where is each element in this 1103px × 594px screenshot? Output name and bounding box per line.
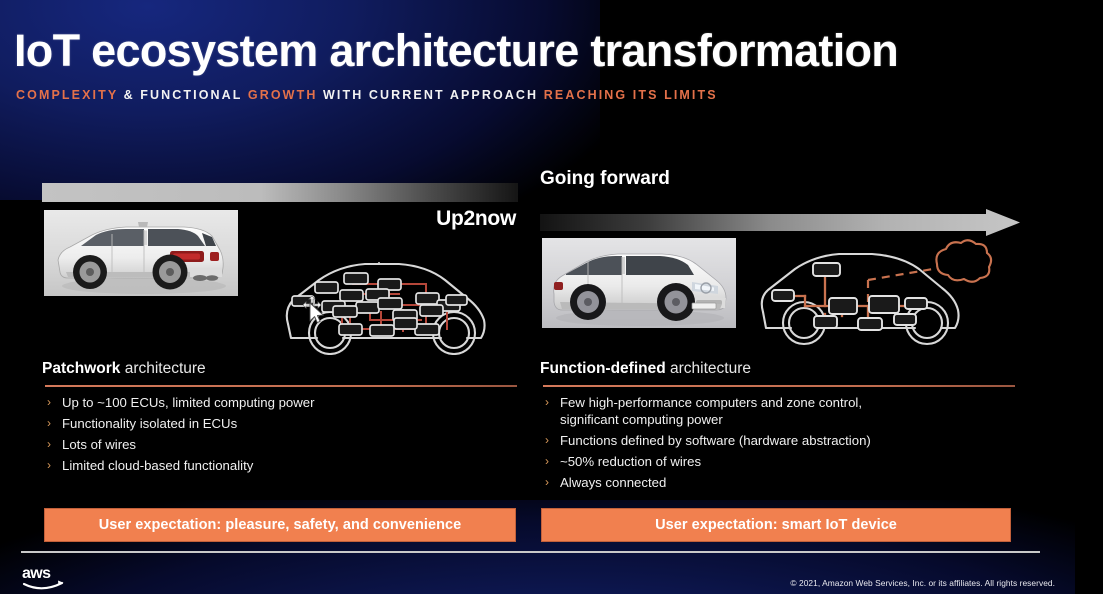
diagram-patchwork-architecture [281, 250, 496, 360]
list-item-label: ~50% reduction of wires [560, 453, 701, 470]
list-item: › ~50% reduction of wires [544, 453, 1018, 470]
subtitle-part-5: REACHING ITS LIMITS [544, 88, 718, 102]
list-item-label: Few high-performance computers and zone … [560, 394, 862, 428]
list-item: › Few high-performance computers and zon… [544, 394, 1018, 428]
car-photo-ev-front [542, 238, 736, 328]
subtitle-part-1: COMPLEXITY [16, 88, 124, 102]
chevron-right-icon: › [544, 474, 560, 491]
left-architecture-title: Patchwork architecture [42, 360, 206, 378]
left-expectation-banner-label: User expectation: pleasure, safety, and … [99, 517, 462, 533]
copyright-notice: © 2021, Amazon Web Services, Inc. or its… [790, 578, 1055, 588]
right-architecture-title-rest: architecture [666, 360, 751, 377]
list-item-label: Up to ~100 ECUs, limited computing power [62, 394, 315, 411]
chevron-right-icon: › [46, 457, 62, 474]
right-divider-rule [543, 385, 1015, 387]
timeline-label-past: Up2now [436, 207, 516, 231]
right-panel-heading: Going forward [540, 168, 670, 190]
left-architecture-title-rest: architecture [120, 360, 205, 377]
list-item: › Lots of wires [46, 436, 520, 453]
left-expectation-banner: User expectation: pleasure, safety, and … [44, 508, 516, 542]
list-item-label: Functionality isolated in ECUs [62, 415, 237, 432]
car-photo-hatchback-rear [44, 210, 238, 296]
list-item: › Limited cloud-based functionality [46, 457, 520, 474]
left-divider-rule [45, 385, 517, 387]
subtitle-part-3: GROWTH [248, 88, 323, 102]
list-item: › Functionality isolated in ECUs [46, 415, 520, 432]
list-item: › Always connected [544, 474, 1018, 491]
timeline-arrow-future [540, 209, 1020, 237]
background-right-mask [1075, 0, 1103, 594]
chevron-right-icon: › [544, 432, 560, 449]
chevron-right-icon: › [46, 436, 62, 453]
chevron-right-icon: › [544, 394, 560, 411]
chevron-right-icon: › [46, 394, 62, 411]
left-architecture-title-bold: Patchwork [42, 360, 120, 377]
right-architecture-title-bold: Function-defined [540, 360, 666, 377]
slide-root: IoT ecosystem architecture transformatio… [0, 0, 1103, 594]
diagram-function-defined-architecture [755, 238, 1017, 355]
footer-divider [21, 551, 1040, 553]
right-bullet-list: › Few high-performance computers and zon… [544, 394, 1018, 495]
subtitle-part-4: WITH CURRENT APPROACH [323, 88, 544, 102]
subtitle-part-2: & FUNCTIONAL [124, 88, 248, 102]
list-item-label: Functions defined by software (hardware … [560, 432, 871, 449]
right-expectation-banner-label: User expectation: smart IoT device [655, 517, 897, 533]
left-bullet-list: › Up to ~100 ECUs, limited computing pow… [46, 394, 520, 478]
aws-logo-icon: aws [22, 564, 68, 590]
list-item-label: Lots of wires [62, 436, 136, 453]
chevron-right-icon: › [544, 453, 560, 470]
list-item: › Functions defined by software (hardwar… [544, 432, 1018, 449]
list-item: › Up to ~100 ECUs, limited computing pow… [46, 394, 520, 411]
right-expectation-banner: User expectation: smart IoT device [541, 508, 1011, 542]
list-item-label: Always connected [560, 474, 666, 491]
chevron-right-icon: › [46, 415, 62, 432]
timeline-bar-past [42, 183, 518, 202]
page-subtitle: COMPLEXITY & FUNCTIONAL GROWTH WITH CURR… [16, 88, 718, 102]
right-architecture-title: Function-defined architecture [540, 360, 751, 378]
svg-text:aws: aws [22, 565, 51, 582]
list-item-label: Limited cloud-based functionality [62, 457, 253, 474]
page-title: IoT ecosystem architecture transformatio… [14, 25, 898, 77]
